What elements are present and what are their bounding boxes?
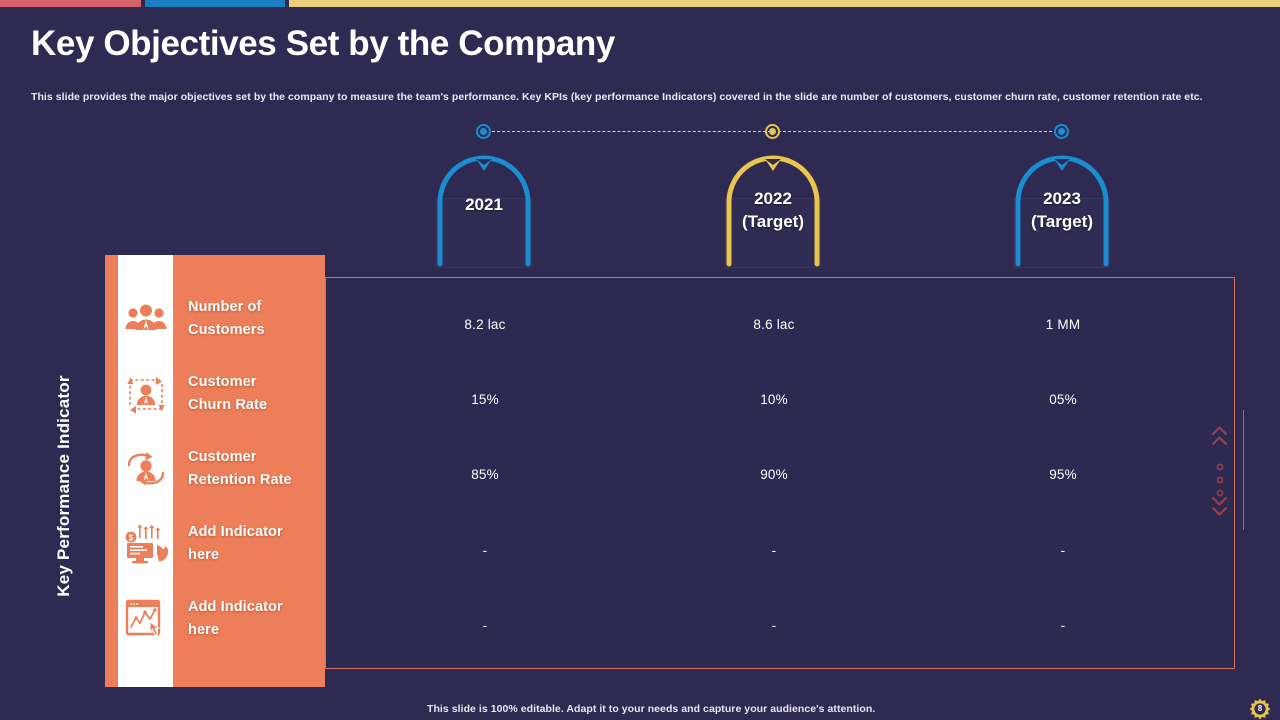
group-of-people-icon	[118, 304, 173, 334]
table-cell: -	[1003, 543, 1123, 558]
kpi-row-label: Customer Retention Rate	[188, 446, 320, 491]
accent-bar-red	[0, 0, 141, 7]
double-chevron-down-icon	[1211, 495, 1228, 517]
table-cell: -	[425, 543, 545, 558]
kpi-row-label: Add Indicator here	[188, 521, 320, 566]
timeline-dot-2023[interactable]	[1054, 124, 1069, 139]
table-cell: -	[714, 543, 834, 558]
timeline-dot-ring	[476, 124, 491, 139]
kpi-label-line1: Add Indicator	[188, 599, 283, 615]
year-marker-year: 2022	[721, 188, 825, 211]
year-marker-sublabel: (Target)	[1010, 211, 1114, 234]
svg-text:$: $	[128, 532, 133, 542]
right-edge-divider	[1243, 410, 1244, 530]
table-cell: 90%	[714, 467, 834, 482]
year-marker-sublabel: (Target)	[721, 211, 825, 234]
accent-bar-blue	[145, 0, 285, 7]
page-number-badge: 8	[1249, 698, 1271, 720]
timeline-dot-2022[interactable]	[765, 124, 780, 139]
kpi-label-line2: here	[188, 547, 219, 563]
table-cell: 8.6 lac	[714, 317, 834, 332]
table-cell: -	[1003, 618, 1123, 633]
year-marker-2021[interactable]: 2021	[432, 146, 536, 268]
table-cell: 10%	[714, 392, 834, 407]
page-subtitle: This slide provides the major objectives…	[31, 91, 1211, 105]
kpi-label-line2: Customers	[188, 322, 265, 338]
kpi-label-line2: Churn Rate	[188, 397, 267, 413]
kpi-row-list: Number of Customers	[105, 255, 325, 687]
person-with-return-arrows-icon	[118, 449, 173, 489]
line-chart-window-icon	[118, 598, 173, 640]
year-marker-2022[interactable]: 2022 (Target)	[721, 146, 825, 268]
year-marker-label: 2022 (Target)	[721, 188, 825, 234]
finance-monitor-chart-icon: $	[118, 523, 173, 565]
kpi-label-line2: Retention Rate	[188, 472, 292, 488]
page-number: 8	[1249, 705, 1271, 713]
table-cell: -	[714, 618, 834, 633]
timeline-dot-ring	[1054, 124, 1069, 139]
kpi-row-label: Number of Customers	[188, 296, 320, 341]
accent-bar-gold	[289, 0, 1280, 7]
axis-title-kpi: Key Performance Indicator	[54, 356, 74, 616]
double-chevron-up-icon	[1211, 425, 1228, 447]
kpi-label-line1: Add Indicator	[188, 524, 283, 540]
person-in-arrow-box-icon	[118, 374, 173, 414]
year-marker-year: 2023	[1010, 188, 1114, 211]
timeline-dot-2021[interactable]	[476, 124, 491, 139]
kpi-label-line2: here	[188, 622, 219, 638]
table-cell: 95%	[1003, 467, 1123, 482]
kpi-label-line1: Customer	[188, 449, 256, 465]
kpi-row[interactable]: Customer Retention Rate	[105, 431, 325, 506]
three-dots-icon	[1216, 463, 1224, 497]
kpi-row[interactable]: Number of Customers	[105, 281, 325, 356]
table-cell: 05%	[1003, 392, 1123, 407]
table-cell: 8.2 lac	[425, 317, 545, 332]
kpi-value-table: 8.2 lac 8.6 lac 1 MM 15% 10% 05% 85% 90%…	[325, 277, 1235, 669]
table-cell: 15%	[425, 392, 545, 407]
page-title: Key Objectives Set by the Company	[31, 24, 615, 64]
timeline-dot-ring	[765, 124, 780, 139]
slide-canvas: Key Objectives Set by the Company This s…	[0, 0, 1280, 720]
kpi-row[interactable]: Add Indicator here	[105, 581, 325, 656]
year-marker-2023[interactable]: 2023 (Target)	[1010, 146, 1114, 268]
year-marker-label: 2021	[432, 194, 536, 217]
year-marker-label: 2023 (Target)	[1010, 188, 1114, 234]
kpi-row[interactable]: $ Add Indicator here	[105, 506, 325, 581]
kpi-label-line1: Number of	[188, 299, 261, 315]
kpi-panel: Number of Customers	[105, 255, 325, 687]
kpi-label-line1: Customer	[188, 374, 256, 390]
table-cell: -	[425, 618, 545, 633]
kpi-row-label: Customer Churn Rate	[188, 371, 320, 416]
table-cell: 85%	[425, 467, 545, 482]
table-cell: 1 MM	[1003, 317, 1123, 332]
kpi-row-label: Add Indicator here	[188, 596, 320, 641]
kpi-row[interactable]: Customer Churn Rate	[105, 356, 325, 431]
year-marker-year: 2021	[432, 194, 536, 217]
footer-note: This slide is 100% editable. Adapt it to…	[427, 703, 875, 715]
